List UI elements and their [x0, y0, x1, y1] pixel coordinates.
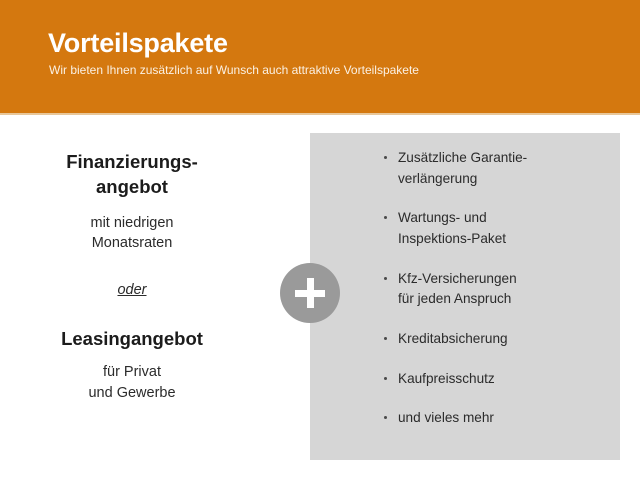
financing-offer-title-line-1: Finanzierungs- — [12, 150, 252, 175]
financing-offer-title-line-2: angebot — [12, 175, 252, 200]
list-item-line-1: und vieles mehr — [398, 408, 603, 429]
bullet-dot-icon — [384, 156, 387, 159]
bullet-dot-icon — [384, 416, 387, 419]
leasing-offer-title: Leasingangebot — [12, 327, 252, 352]
list-item-line-1: Kaufpreisschutz — [398, 369, 603, 390]
leasing-offer-detail-line-1: für Privat — [12, 362, 252, 383]
list-item-line-2: für jeden Anspruch — [398, 289, 603, 310]
financing-offer-detail-line-2: Monatsraten — [12, 233, 252, 254]
plus-icon — [280, 263, 340, 323]
financing-offer-title: Finanzierungs- angebot — [12, 150, 252, 200]
bullet-dot-icon — [384, 277, 387, 280]
financing-offer-detail-line-1: mit niedrigen — [12, 213, 252, 234]
plus-icon-vertical-bar — [307, 278, 314, 308]
list-item: Kfz-Versicherungen für jeden Anspruch — [381, 269, 603, 310]
list-item: Kreditabsicherung — [381, 329, 603, 350]
list-item-line-2: Inspektions-Paket — [398, 229, 603, 250]
leasing-offer-detail-line-2: und Gewerbe — [12, 383, 252, 404]
bullet-dot-icon — [384, 337, 387, 340]
bullet-dot-icon — [384, 216, 387, 219]
list-item: und vieles mehr — [381, 408, 603, 429]
list-item-line-1: Kreditabsicherung — [398, 329, 603, 350]
leasing-offer-block: Leasingangebot für Privat und Gewerbe — [12, 327, 252, 403]
list-item-line-1: Zusätzliche Garantie- — [398, 148, 603, 169]
header-divider — [0, 113, 640, 115]
list-item-line-1: Kfz-Versicherungen — [398, 269, 603, 290]
financing-offer-block: Finanzierungs- angebot mit niedrigen Mon… — [12, 150, 252, 254]
financing-offer-detail: mit niedrigen Monatsraten — [12, 213, 252, 254]
offers-separator-oder: oder — [12, 282, 252, 298]
leasing-offer-detail: für Privat und Gewerbe — [12, 362, 252, 403]
page-subtitle: Wir bieten Ihnen zusätzlich auf Wunsch a… — [49, 63, 419, 77]
offers-column: Finanzierungs- angebot mit niedrigen Mon… — [12, 150, 252, 403]
list-item: Zusätzliche Garantie- verlängerung — [381, 148, 603, 189]
page-title: Vorteilspakete — [48, 29, 228, 59]
benefits-list: Zusätzliche Garantie- verlängerung Wartu… — [381, 148, 603, 429]
list-item-line-2: verlängerung — [398, 169, 603, 190]
list-item: Wartungs- und Inspektions-Paket — [381, 208, 603, 249]
list-item-line-1: Wartungs- und — [398, 208, 603, 229]
bullet-dot-icon — [384, 377, 387, 380]
list-item: Kaufpreisschutz — [381, 369, 603, 390]
